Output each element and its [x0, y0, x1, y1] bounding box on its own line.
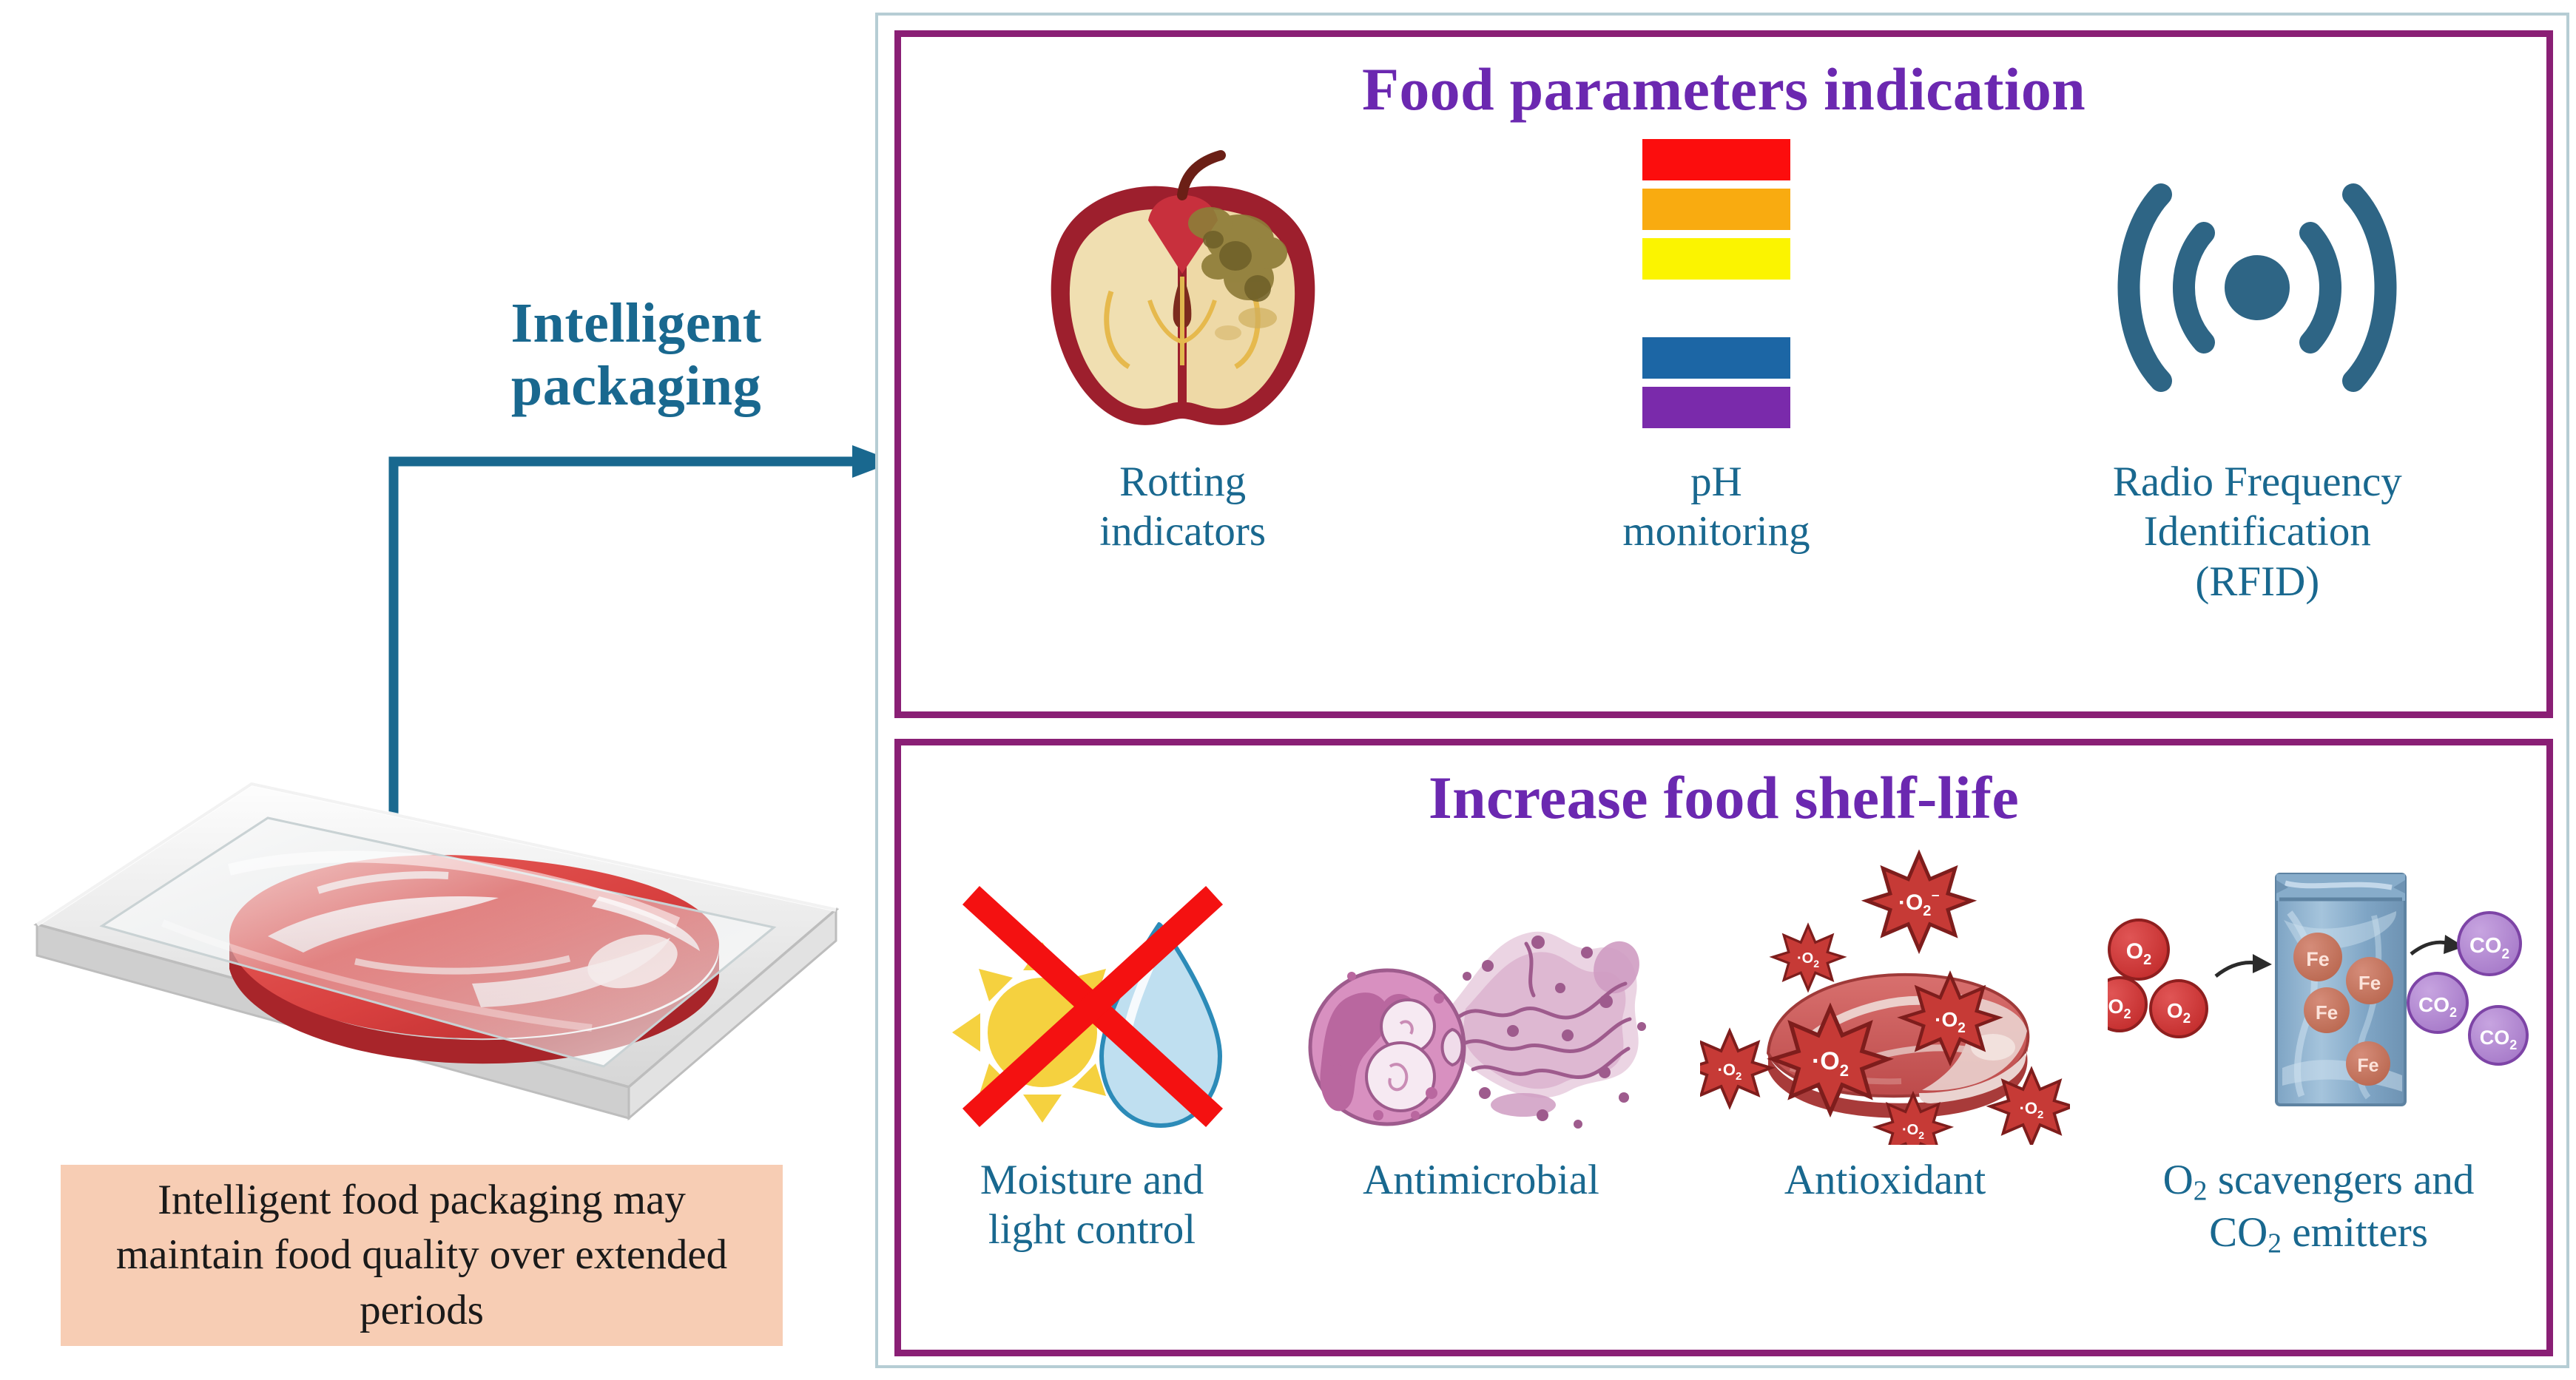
- rotting-apple-icon: [1024, 143, 1342, 447]
- lysing-microbe-cell-icon: [1307, 871, 1655, 1145]
- ph-color-strip-icon: [1642, 139, 1790, 428]
- svg-text:Fe: Fe: [2306, 948, 2330, 970]
- item-rfid: Radio Frequency Identification (RFID): [2013, 129, 2501, 606]
- label-antioxidant: Antioxidant: [1784, 1155, 1986, 1205]
- summary-caption-text: Intelligent food packaging may maintain …: [80, 1173, 763, 1337]
- ph-band-green: [1642, 288, 1790, 329]
- label-o2-scavengers: O2 scavengers and CO2 emitters: [2163, 1155, 2475, 1259]
- panel-increase-food-shelf-life: Increase food shelf-life: [894, 739, 2553, 1356]
- ph-band-blue: [1642, 337, 1790, 379]
- item-rotting-indicators: Rotting indicators: [946, 129, 1420, 557]
- ph-band-orange: [1642, 189, 1790, 230]
- panel-food-parameters-indication: Food parameters indication: [894, 30, 2553, 718]
- label-rotting-indicators: Rotting indicators: [1099, 457, 1266, 557]
- diagram-outer-frame: Food parameters indication: [875, 13, 2569, 1368]
- ph-band-yellow: [1642, 238, 1790, 280]
- flow-label-line2: packaging: [436, 355, 836, 418]
- o2-scavenger-sachet-icon: O2 O2 O2: [2108, 849, 2529, 1145]
- ph-band-purple: [1642, 387, 1790, 428]
- rfid-signal-icon: [2109, 162, 2405, 413]
- flow-label-intelligent-packaging: Intelligent packaging: [436, 292, 836, 418]
- summary-caption-box: Intelligent food packaging may maintain …: [61, 1165, 783, 1346]
- no-sun-no-moisture-icon: [948, 879, 1236, 1145]
- svg-text:Fe: Fe: [2357, 1055, 2378, 1076]
- item-o2-scavengers-co2-emitters: O2 O2 O2: [2097, 834, 2540, 1259]
- item-antioxidant: ·O2⁻ ·O2 ·O2 ·O2 ·O2 ·O2 ·O2 Antioxidant: [1685, 834, 2085, 1205]
- label-co2-line2: CO2 emitters: [2163, 1208, 2475, 1260]
- label-ph-monitoring: pH monitoring: [1622, 457, 1810, 557]
- item-antimicrobial: Antimicrobial: [1289, 834, 1673, 1205]
- svg-text:Fe: Fe: [2358, 972, 2381, 994]
- packaged-meat-tray-icon: [7, 740, 866, 1139]
- svg-text:Fe: Fe: [2316, 1001, 2338, 1024]
- item-ph-monitoring: pH monitoring: [1509, 129, 1923, 557]
- label-rfid: Radio Frequency Identification (RFID): [2113, 457, 2402, 606]
- ph-band-red: [1642, 139, 1790, 180]
- label-moisture-light-control: Moisture and light control: [980, 1155, 1204, 1255]
- label-antimicrobial: Antimicrobial: [1363, 1155, 1599, 1205]
- flow-label-line1: Intelligent: [436, 292, 836, 355]
- label-o2-line1: O2 scavengers and: [2163, 1155, 2475, 1208]
- meat-with-oxygen-radicals-icon: ·O2⁻ ·O2 ·O2 ·O2 ·O2 ·O2 ·O2: [1700, 849, 2070, 1145]
- panel-title-food-parameters: Food parameters indication: [901, 55, 2546, 124]
- panel-title-increase-shelf-life: Increase food shelf-life: [901, 763, 2546, 833]
- item-moisture-light-control: Moisture and light control: [907, 834, 1277, 1255]
